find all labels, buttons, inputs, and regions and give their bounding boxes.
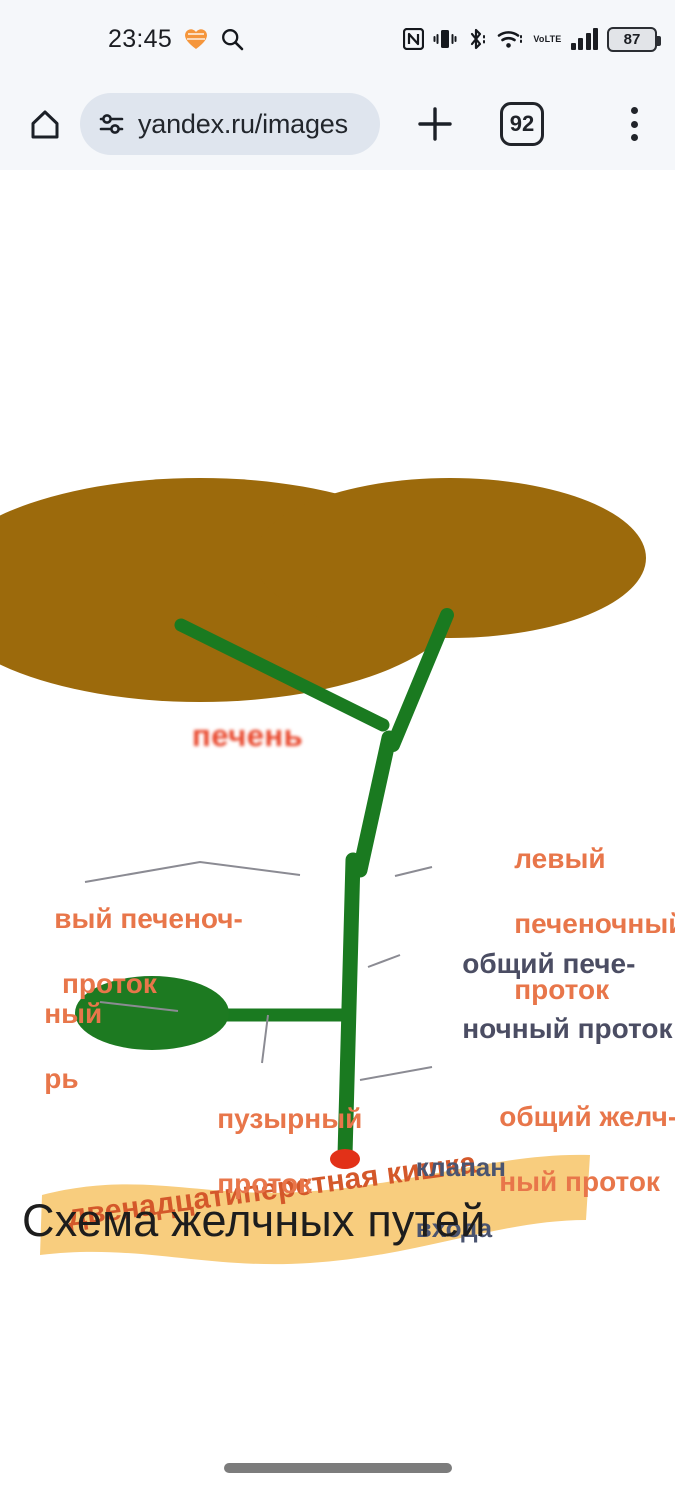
browser-toolbar: yandex.ru/images 92 <box>0 78 675 170</box>
battery-level-text: 87 <box>624 32 641 47</box>
vibrate-icon <box>433 28 457 50</box>
volte-line-1: Vo <box>533 35 544 44</box>
status-bar-clock: 23:45 <box>108 25 172 54</box>
common-hepatic-duct-line-2: ночный проток <box>462 1013 672 1044</box>
gallbladder-line-1: ный <box>44 998 102 1029</box>
nfc-icon <box>403 28 424 50</box>
gesture-handle[interactable] <box>224 1463 452 1473</box>
heart-icon <box>184 28 208 50</box>
wifi-icon <box>497 28 524 50</box>
new-tab-button[interactable] <box>410 99 460 149</box>
gallbladder-label: ный рь <box>0 965 102 1129</box>
figure-title: Схема желчных путей <box>22 1195 485 1247</box>
common-hepatic-duct-line-1: общий пече- <box>462 948 635 979</box>
left-hepatic-duct-line-1: левый <box>514 843 605 874</box>
navigation-bar <box>0 1430 675 1500</box>
cystic-duct-line-1: пузырный <box>217 1103 362 1134</box>
status-bar: 23:45 <box>0 0 675 78</box>
common-hepatic-duct-label: общий пече- ночный проток <box>400 915 673 1079</box>
address-bar[interactable]: yandex.ru/images <box>80 93 380 155</box>
search-icon <box>220 27 244 51</box>
battery-icon: 87 <box>607 27 657 52</box>
signal-bars-icon <box>571 28 599 50</box>
volte-line-2: LTE <box>545 35 562 44</box>
liver-shape <box>0 478 646 702</box>
more-options-icon[interactable] <box>619 104 649 144</box>
biliary-tract-diagram: печень двенадцатиперстная кишка вый пече… <box>0 170 675 1270</box>
page-content: печень двенадцатиперстная кишка вый пече… <box>0 170 675 1430</box>
right-hepatic-duct-line-1: вый печеноч- <box>54 903 243 934</box>
tab-count-text: 92 <box>510 113 534 135</box>
entry-valve-line-1: клапан <box>416 1152 506 1182</box>
status-bar-left: 23:45 <box>108 25 244 54</box>
phone-screen: 23:45 <box>0 0 675 1500</box>
common-bile-duct-line-2: ный проток <box>499 1166 660 1197</box>
status-bar-right: Vo LTE 87 <box>403 27 657 52</box>
url-text[interactable]: yandex.ru/images <box>138 109 348 140</box>
liver-label: печень <box>192 718 303 754</box>
bluetooth-icon <box>466 28 488 51</box>
tune-icon[interactable] <box>98 110 126 138</box>
home-icon[interactable] <box>22 101 68 147</box>
common-bile-duct-line-1: общий желч- <box>499 1101 675 1132</box>
volte-icon: Vo LTE <box>533 35 561 44</box>
gallbladder-line-2: рь <box>44 1063 78 1094</box>
tab-counter-button[interactable]: 92 <box>500 102 544 146</box>
